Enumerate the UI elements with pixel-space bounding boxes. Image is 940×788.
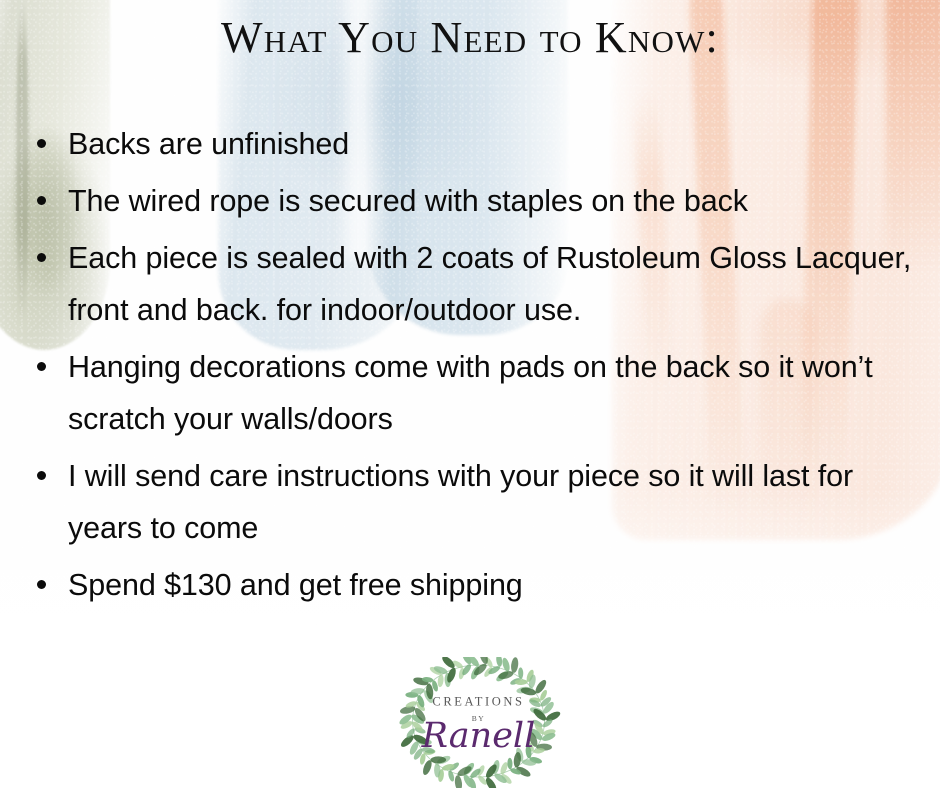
page-title: What You Need to Know: [0,12,940,63]
list-item-text: The wired rope is secured with staples o… [68,184,748,218]
brand-logo: CREATIONS BY Ranell [391,657,566,788]
bullet-dot-icon [37,253,46,262]
bullet-dot-icon [37,580,46,589]
bullet-dot-icon [37,139,46,148]
list-item: Hanging decorations come with pads on th… [26,341,924,445]
wreath-logo-icon: CREATIONS BY Ranell [391,657,566,788]
list-item: Backs are unfinished [26,118,924,170]
list-item: Spend $130 and get free shipping [26,559,924,611]
list-item: The wired rope is secured with staples o… [26,175,924,227]
flyer-canvas: What You Need to Know: Backs are unfinis… [0,0,940,788]
bullet-dot-icon [37,196,46,205]
list-item-text: Each piece is sealed with 2 coats of Rus… [68,241,911,327]
list-item-text: Hanging decorations come with pads on th… [68,350,873,436]
bullet-dot-icon [37,471,46,480]
bullet-dot-icon [37,362,46,371]
list-item: I will send care instructions with your … [26,450,924,554]
list-item: Each piece is sealed with 2 coats of Rus… [26,232,924,336]
info-bullet-list: Backs are unfinished The wired rope is s… [26,118,924,616]
logo-creations-text: CREATIONS [432,695,524,709]
list-item-text: Backs are unfinished [68,127,349,161]
list-item-text: Spend $130 and get free shipping [68,568,523,602]
logo-ranell-text: Ranell [421,716,536,756]
list-item-text: I will send care instructions with your … [68,459,853,545]
